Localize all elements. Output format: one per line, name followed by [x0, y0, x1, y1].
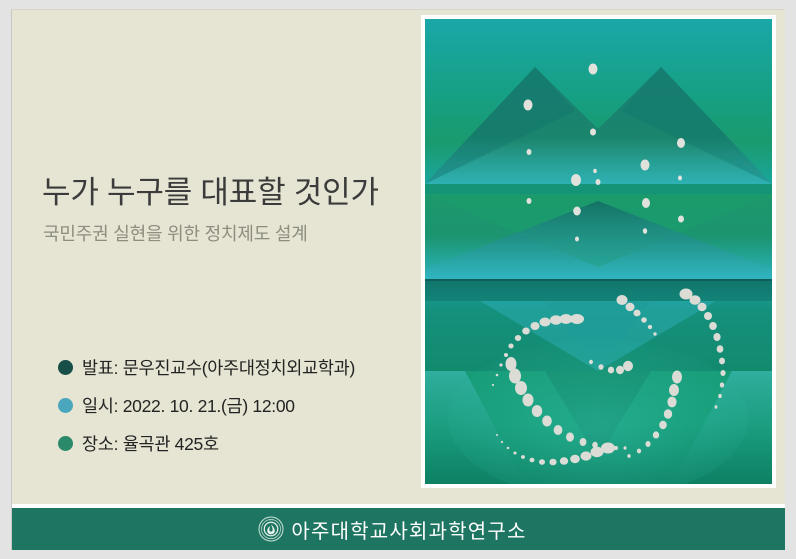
- list-item: 장소: 율곡관 425호: [12, 424, 422, 462]
- artwork-graphic: [425, 19, 772, 484]
- bullet-dot-icon: [58, 360, 73, 375]
- poster-artwork-frame: [421, 15, 776, 488]
- footer-organization-label: 아주대학교사회과학연구소: [291, 515, 526, 544]
- bullet-dot-icon: [58, 398, 73, 413]
- page-title: 누가 누구를 대표할 것인가: [42, 167, 417, 212]
- poster-card: 누가 누구를 대표할 것인가 국민주권 실현을 위한 정치제도 설계 발표: 문…: [11, 9, 785, 550]
- footer-content: • • • • • • • • 아주대학교사회과학연구소: [258, 515, 526, 544]
- list-item: 발표: 문우진교수(아주대정치외교학과): [12, 348, 422, 386]
- poster-artwork: [425, 19, 772, 484]
- event-location: 장소: 율곡관 425호: [82, 431, 219, 456]
- svg-text:• • • • •: • • • • •: [268, 538, 275, 541]
- footer-bar: • • • • • • • • 아주대학교사회과학연구소: [12, 508, 785, 550]
- svg-text:• • •: • • •: [269, 519, 273, 522]
- university-seal-icon: • • • • • • • •: [258, 516, 284, 542]
- poster-text-column: 누가 누구를 대표할 것인가 국민주권 실현을 위한 정치제도 설계 발표: 문…: [12, 10, 422, 506]
- event-presenter: 발표: 문우진교수(아주대정치외교학과): [82, 355, 355, 380]
- bullet-dot-icon: [58, 436, 73, 451]
- list-item: 일시: 2022. 10. 21.(금) 12:00: [12, 386, 422, 424]
- page-subtitle: 국민주권 실현을 위한 정치제도 설계: [43, 220, 308, 246]
- event-datetime: 일시: 2022. 10. 21.(금) 12:00: [82, 393, 295, 418]
- event-info-list: 발표: 문우진교수(아주대정치외교학과) 일시: 2022. 10. 21.(금…: [12, 348, 422, 462]
